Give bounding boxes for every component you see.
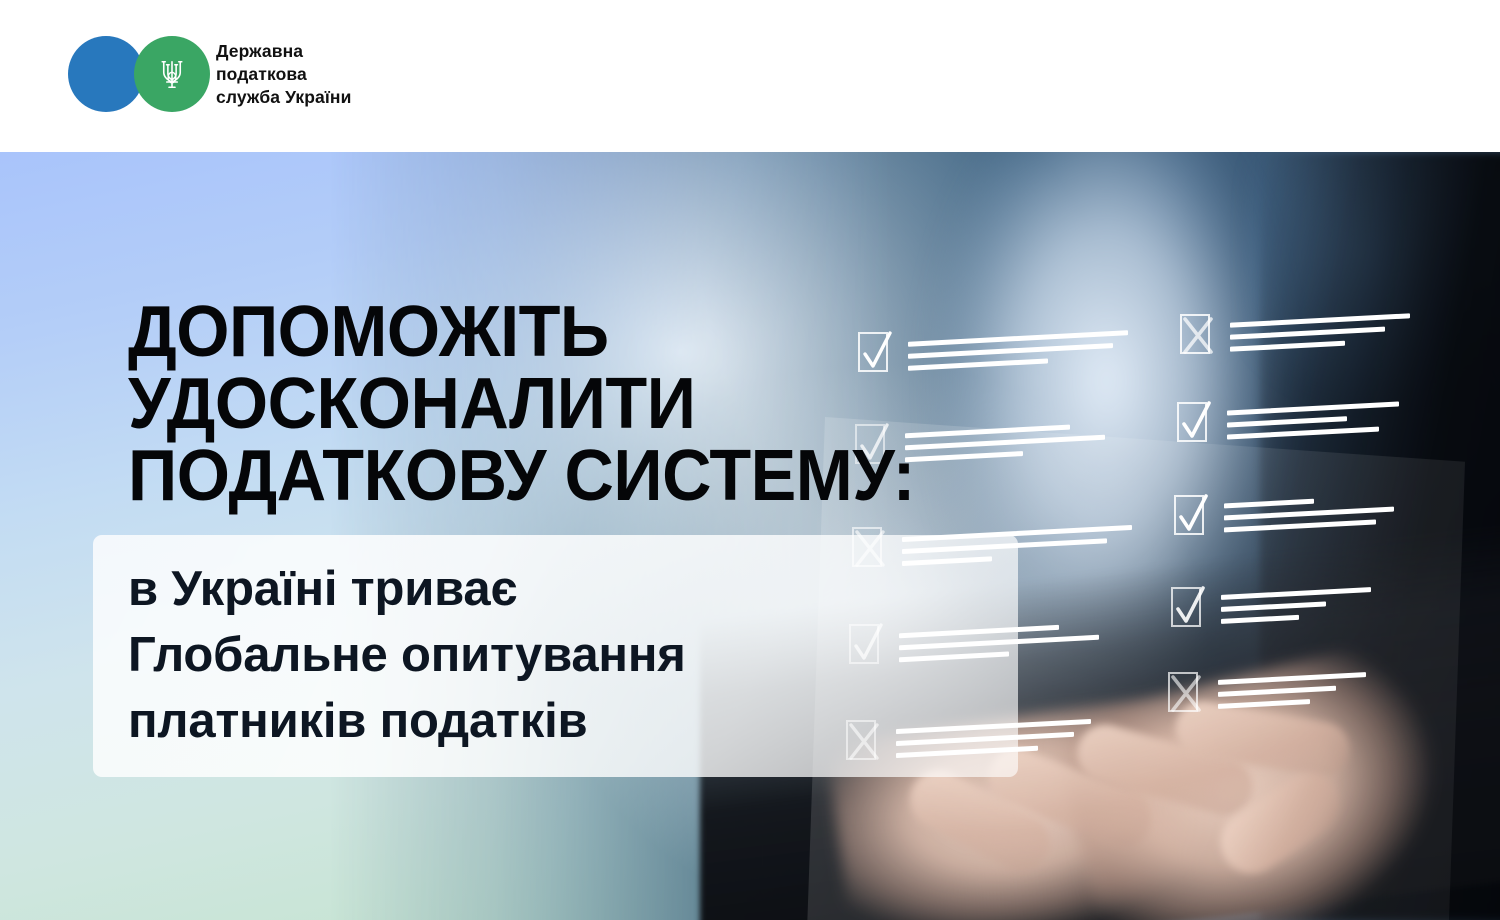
ukrainian-trident-icon bbox=[134, 36, 210, 112]
page-subtitle: в Україні триває Глобальне опитування пл… bbox=[128, 556, 686, 754]
organization-logo[interactable]: Державна податкова служба України bbox=[68, 36, 351, 112]
organization-name: Державна податкова служба України bbox=[216, 40, 351, 109]
tax-service-survey-banner: Державна податкова служба України bbox=[0, 0, 1500, 920]
page-title: ДОПОМОЖІТЬ УДОСКОНАЛИТИ ПОДАТКОВУ СИСТЕМ… bbox=[128, 296, 915, 512]
logo-marks bbox=[68, 36, 200, 112]
blue-circle-icon bbox=[68, 36, 144, 112]
header-bar: Державна податкова служба України bbox=[0, 0, 1500, 152]
